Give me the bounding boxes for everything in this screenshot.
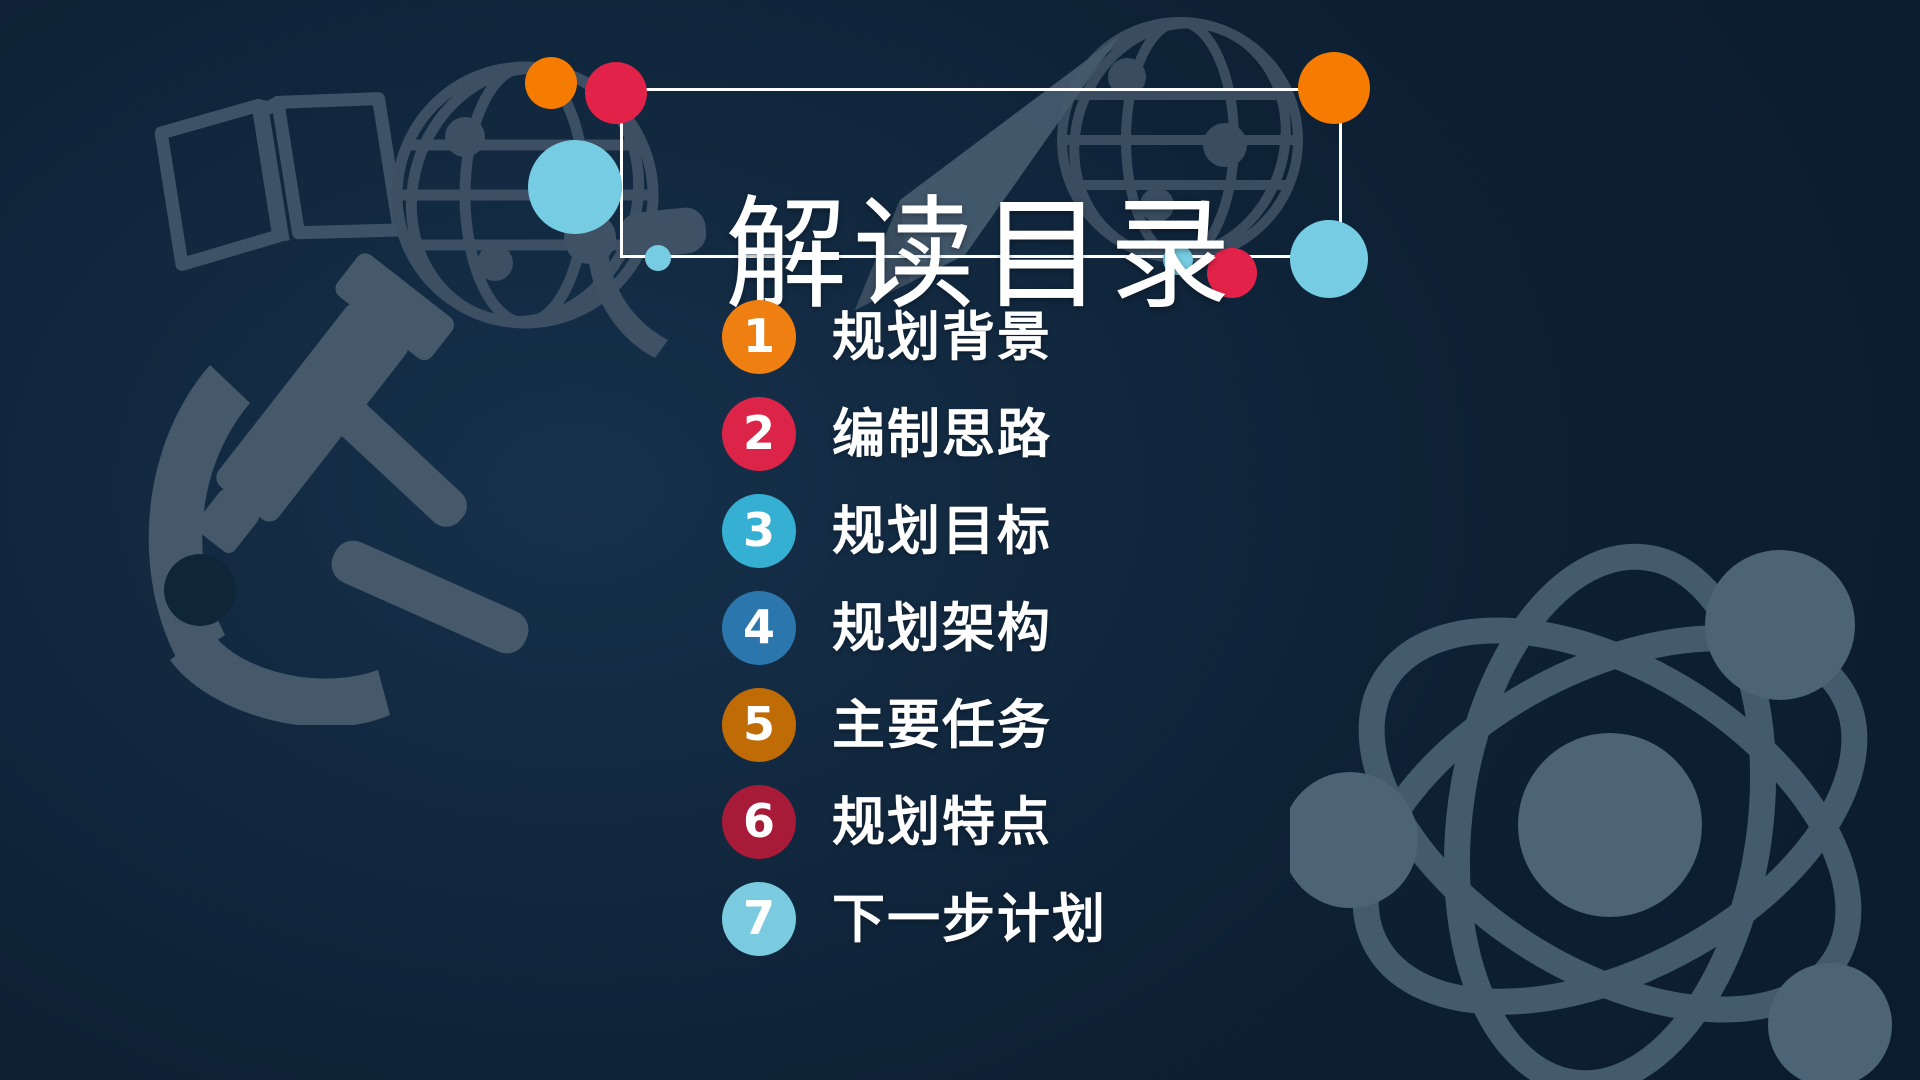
agenda-item-label: 下一步计划	[832, 893, 1107, 946]
agenda-number-badge: 6	[722, 785, 796, 859]
agenda-number-badge: 2	[722, 397, 796, 471]
agenda-item-label: 规划目标	[832, 505, 1052, 558]
slide-canvas: 解读目录 1 规划背景 2 编制思路 3 规划目标 4 规划架构 5 主要任务 …	[0, 0, 1920, 1080]
cyan-dot-left	[528, 140, 622, 234]
agenda-number-badge: 7	[722, 882, 796, 956]
agenda-list: 1 规划背景 2 编制思路 3 规划目标 4 规划架构 5 主要任务 6 规划特…	[722, 300, 1107, 956]
agenda-number-badge: 5	[722, 688, 796, 762]
agenda-number-badge: 3	[722, 494, 796, 568]
atom-icon	[1290, 520, 1920, 1080]
crimson-dot-top-left	[525, 57, 577, 109]
agenda-item-7[interactable]: 7 下一步计划	[722, 882, 1107, 956]
orange-dot-top-right	[1298, 52, 1370, 124]
agenda-item-4[interactable]: 4 规划架构	[722, 591, 1107, 665]
open-book-icon	[150, 85, 410, 275]
agenda-item-5[interactable]: 5 主要任务	[722, 688, 1107, 762]
agenda-item-6[interactable]: 6 规划特点	[722, 785, 1107, 859]
microscope-icon	[60, 245, 530, 725]
orange-dot-top-left	[585, 62, 647, 124]
agenda-item-label: 编制思路	[832, 408, 1052, 461]
agenda-item-label: 规划特点	[832, 796, 1052, 849]
agenda-item-3[interactable]: 3 规划目标	[722, 494, 1107, 568]
agenda-number-badge: 1	[722, 300, 796, 374]
agenda-item-1[interactable]: 1 规划背景	[722, 300, 1107, 374]
agenda-item-label: 规划架构	[832, 602, 1052, 655]
agenda-number-badge: 4	[722, 591, 796, 665]
agenda-item-label: 规划背景	[832, 311, 1052, 364]
agenda-item-2[interactable]: 2 编制思路	[722, 397, 1107, 471]
agenda-item-label: 主要任务	[832, 699, 1052, 752]
